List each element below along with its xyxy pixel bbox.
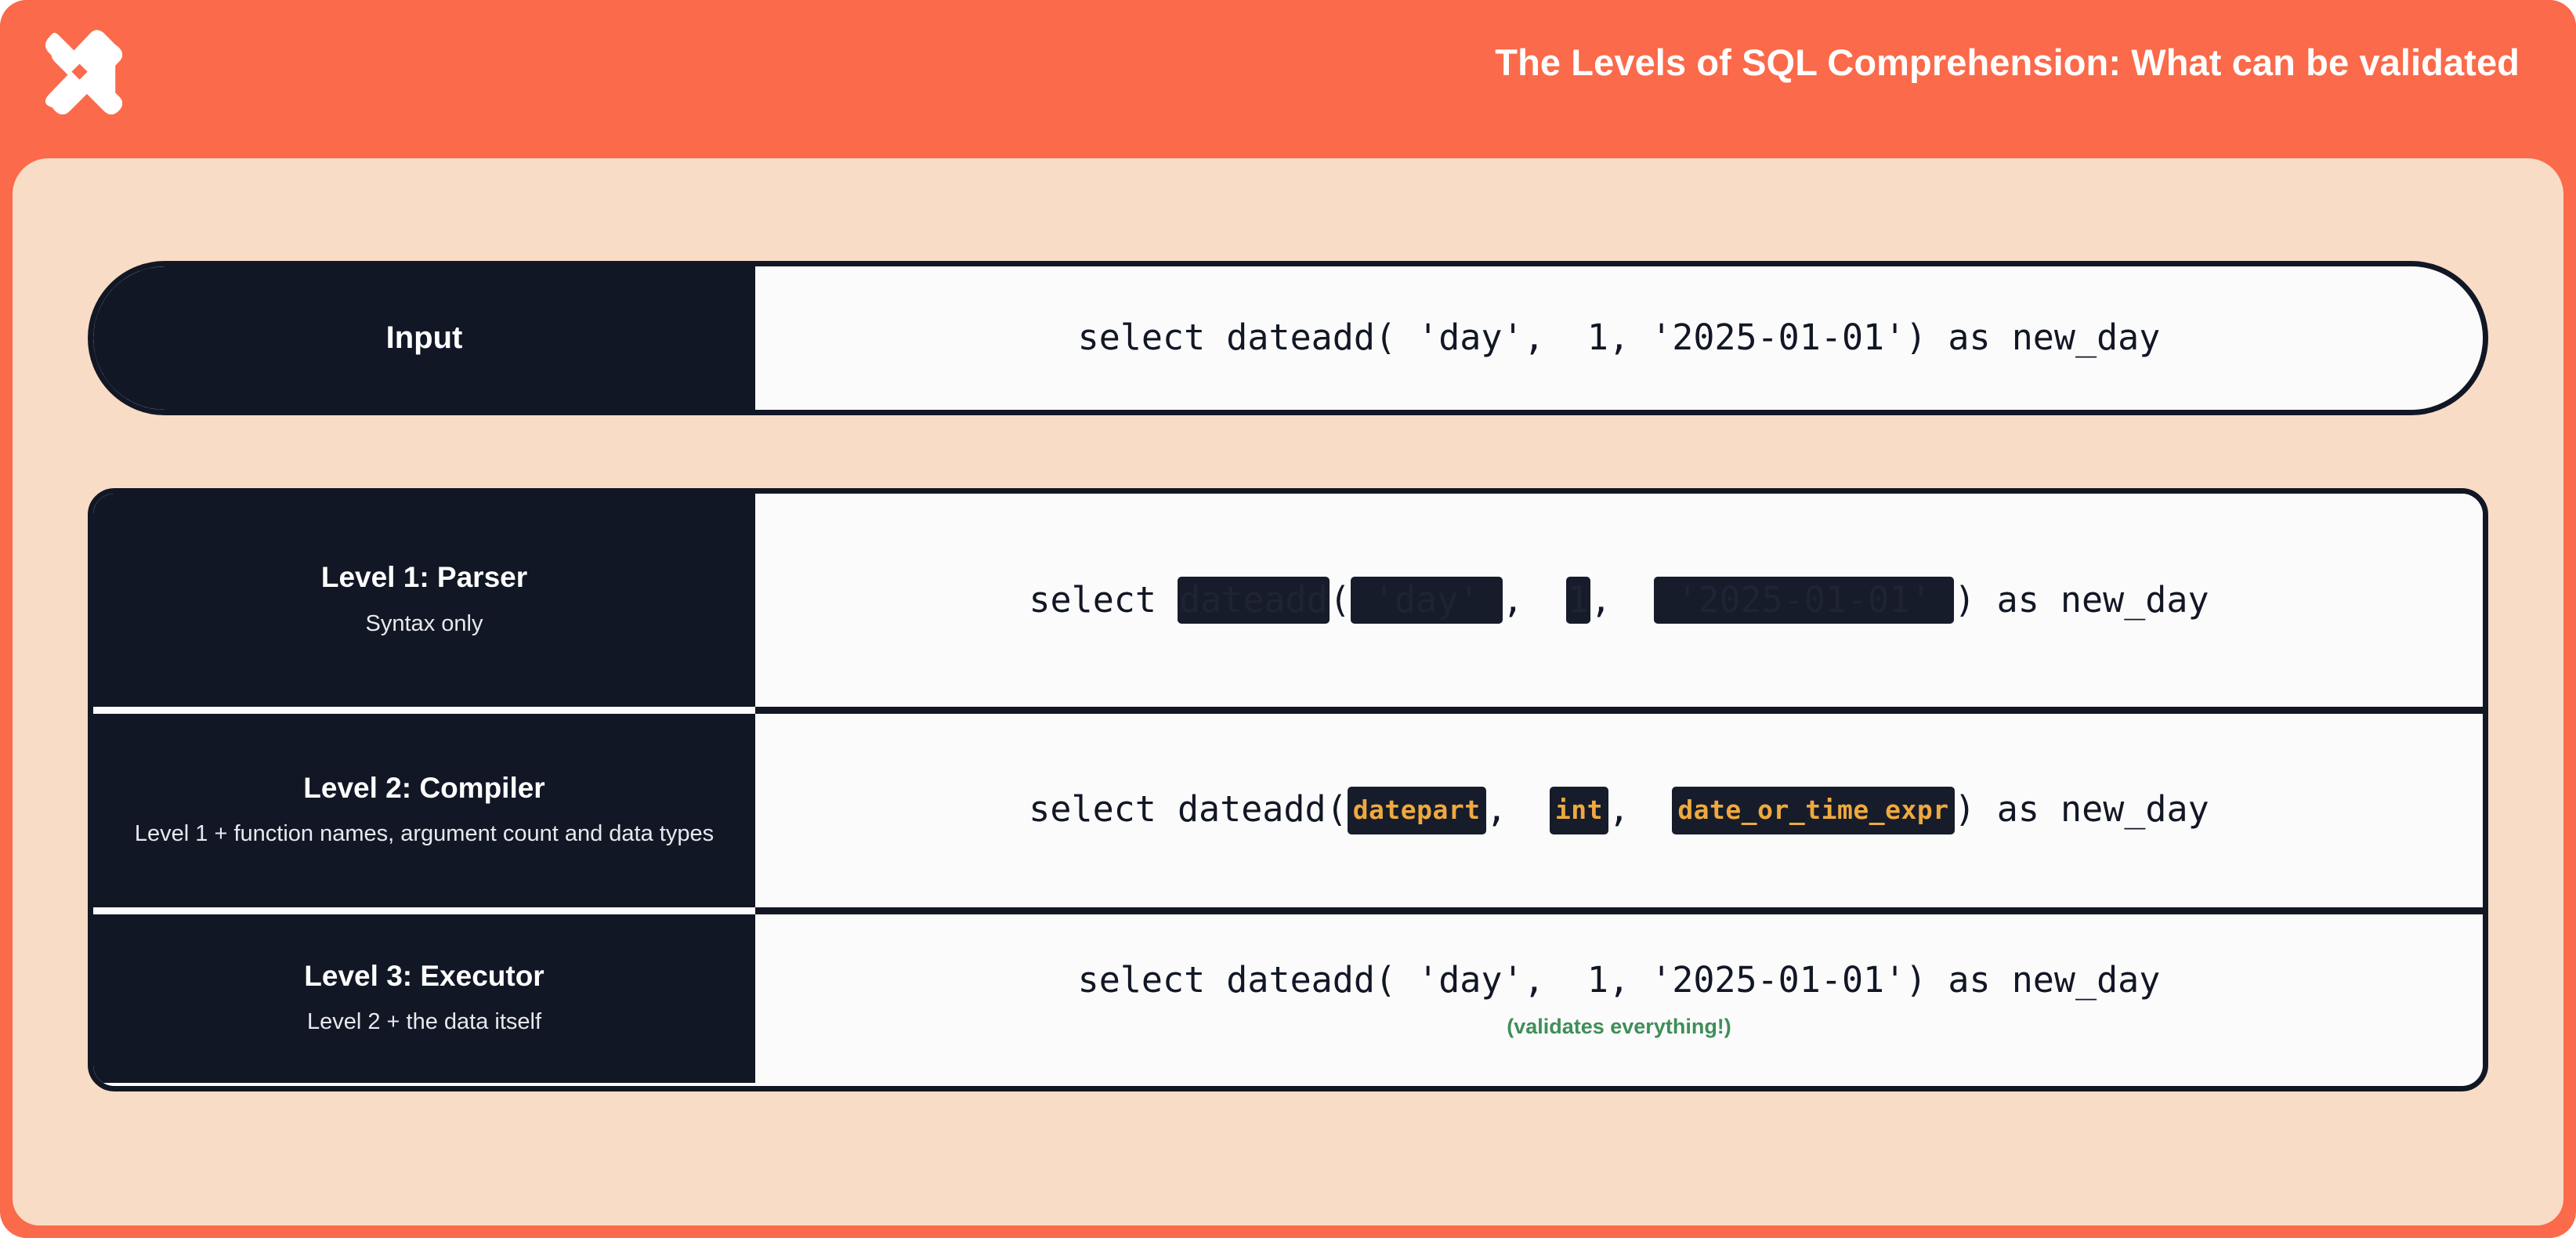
redacted-token: 'day': [1351, 577, 1503, 624]
input-code-cell: select dateadd( 'day', 1, '2025-01-01') …: [755, 266, 2483, 410]
level-row: Level 2: Compiler Level 1 + function nam…: [93, 714, 2483, 914]
input-card: Input select dateadd( 'day', 1, '2025-01…: [88, 261, 2488, 415]
code-text: ,: [1486, 788, 1550, 830]
level-label-cell: Level 3: Executor Level 2 + the data its…: [93, 914, 755, 1083]
level-title: Level 2: Compiler: [303, 772, 545, 805]
code-text: (: [1330, 579, 1351, 621]
code-text: select dateadd( 'day', 1, '2025-01-01') …: [1078, 959, 2161, 1001]
redacted-token: '2025-01-01': [1654, 577, 1954, 624]
level-sql-code: select dateadd( 'day', 1, '2025-01-01') …: [1078, 958, 2161, 1002]
level-subtitle: Level 1 + function names, argument count…: [135, 819, 714, 849]
level-sql-code: select dateadd( 'day' , 1, '2025-01-01' …: [1029, 577, 2209, 624]
level-label-cell: Level 1: Parser Syntax only: [93, 494, 755, 714]
code-text: ) as new_day: [1954, 579, 2209, 621]
infographic-frame: The Levels of SQL Comprehension: What ca…: [0, 0, 2576, 1238]
redacted-token: 1: [1566, 577, 1590, 624]
level-row: Level 1: Parser Syntax only select datea…: [93, 494, 2483, 714]
level-subtitle: Level 2 + the data itself: [307, 1007, 541, 1037]
x-star-logo-icon: [36, 28, 122, 114]
code-text: ,: [1608, 788, 1672, 830]
levels-card: Level 1: Parser Syntax only select datea…: [88, 488, 2488, 1091]
code-text: ,: [1590, 579, 1654, 621]
input-label-text: Input: [386, 320, 463, 356]
code-text: select: [1029, 579, 1178, 621]
level-code-cell: select dateadd( 'day' , 1, '2025-01-01' …: [755, 494, 2483, 707]
code-text: ,: [1503, 579, 1566, 621]
redacted-token: dateadd: [1178, 577, 1330, 624]
page-title: The Levels of SQL Comprehension: What ca…: [1495, 41, 2520, 84]
level-code-cell: select dateadd( 'day', 1, '2025-01-01') …: [755, 914, 2483, 1083]
input-label-cell: Input: [93, 266, 755, 410]
level-label-cell: Level 2: Compiler Level 1 + function nam…: [93, 714, 755, 914]
level-row: Level 3: Executor Level 2 + the data its…: [93, 914, 2483, 1083]
level-note: (validates everything!): [1507, 1015, 1731, 1039]
code-text: ) as new_day: [1955, 788, 2209, 830]
code-text: select dateadd(: [1029, 788, 1347, 830]
type-token: datepart: [1348, 787, 1486, 834]
type-token: date_or_time_expr: [1672, 787, 1954, 834]
level-sql-code: select dateadd(datepart, int, date_or_ti…: [1029, 787, 2209, 834]
level-title: Level 3: Executor: [304, 960, 544, 994]
level-subtitle: Syntax only: [366, 609, 483, 639]
header-bar: The Levels of SQL Comprehension: What ca…: [0, 0, 2576, 158]
input-sql-code: select dateadd( 'day', 1, '2025-01-01') …: [1078, 316, 2161, 360]
level-title: Level 1: Parser: [321, 561, 527, 595]
level-code-cell: select dateadd(datepart, int, date_or_ti…: [755, 714, 2483, 907]
type-token: int: [1550, 787, 1608, 834]
